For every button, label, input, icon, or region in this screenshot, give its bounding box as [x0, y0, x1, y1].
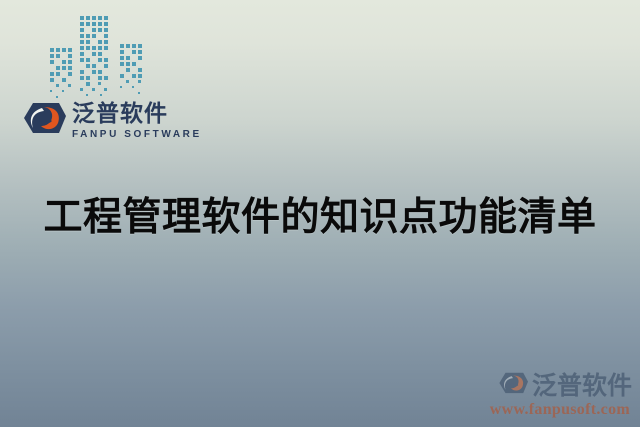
brand-name-cn: 泛普软件 [72, 103, 202, 126]
watermark: 泛普软件 www.fanpusoft.com [432, 370, 632, 419]
page-title: 工程管理软件的知识点功能清单 [0, 186, 640, 242]
brand-wordmark: 泛普软件 FANPU SOFTWARE [72, 103, 202, 140]
fanpu-hexagon-logo-icon [22, 99, 66, 143]
fanpu-hexagon-logo-icon [498, 370, 528, 400]
brand-name-en: FANPU SOFTWARE [72, 130, 202, 140]
watermark-url: www.fanpusoft.com [432, 401, 632, 419]
brand-logo: 泛普软件 FANPU SOFTWARE [22, 99, 202, 143]
poster-canvas: 泛普软件 FANPU SOFTWARE 工程管理软件的知识点功能清单 泛普软件 … [0, 0, 640, 427]
watermark-name-cn: 泛普软件 [532, 373, 632, 398]
pixel-buildings-icon [44, 6, 148, 102]
watermark-brand: 泛普软件 [432, 370, 632, 400]
